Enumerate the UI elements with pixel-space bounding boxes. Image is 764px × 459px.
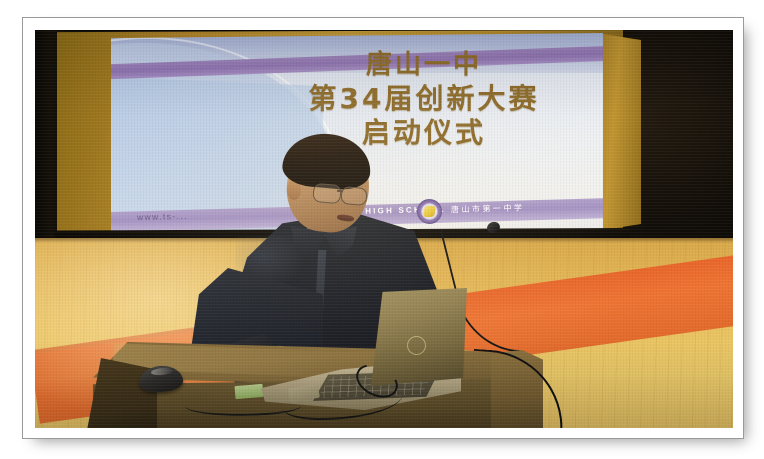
podium-left-panel	[87, 358, 157, 428]
slide-title: 唐山一中 第34届创新大赛 启动仪式	[259, 51, 589, 149]
eyeglasses-left-lens	[312, 183, 342, 204]
slide-title-line-1: 唐山一中	[259, 51, 589, 80]
speaker-hair	[281, 130, 373, 191]
slide-website-url: www.ts-...	[137, 211, 188, 222]
eyeglasses-right-lens	[340, 186, 367, 206]
framed-photo: 唐山一中 第34届创新大赛 启动仪式 www.ts-... AN NO.1 HI…	[0, 0, 764, 459]
scene: 唐山一中 第34届创新大赛 启动仪式 www.ts-... AN NO.1 HI…	[35, 30, 733, 428]
slide-title-line-2: 第34届创新大赛	[259, 83, 589, 114]
photograph: 唐山一中 第34届创新大赛 启动仪式 www.ts-... AN NO.1 HI…	[35, 30, 733, 428]
